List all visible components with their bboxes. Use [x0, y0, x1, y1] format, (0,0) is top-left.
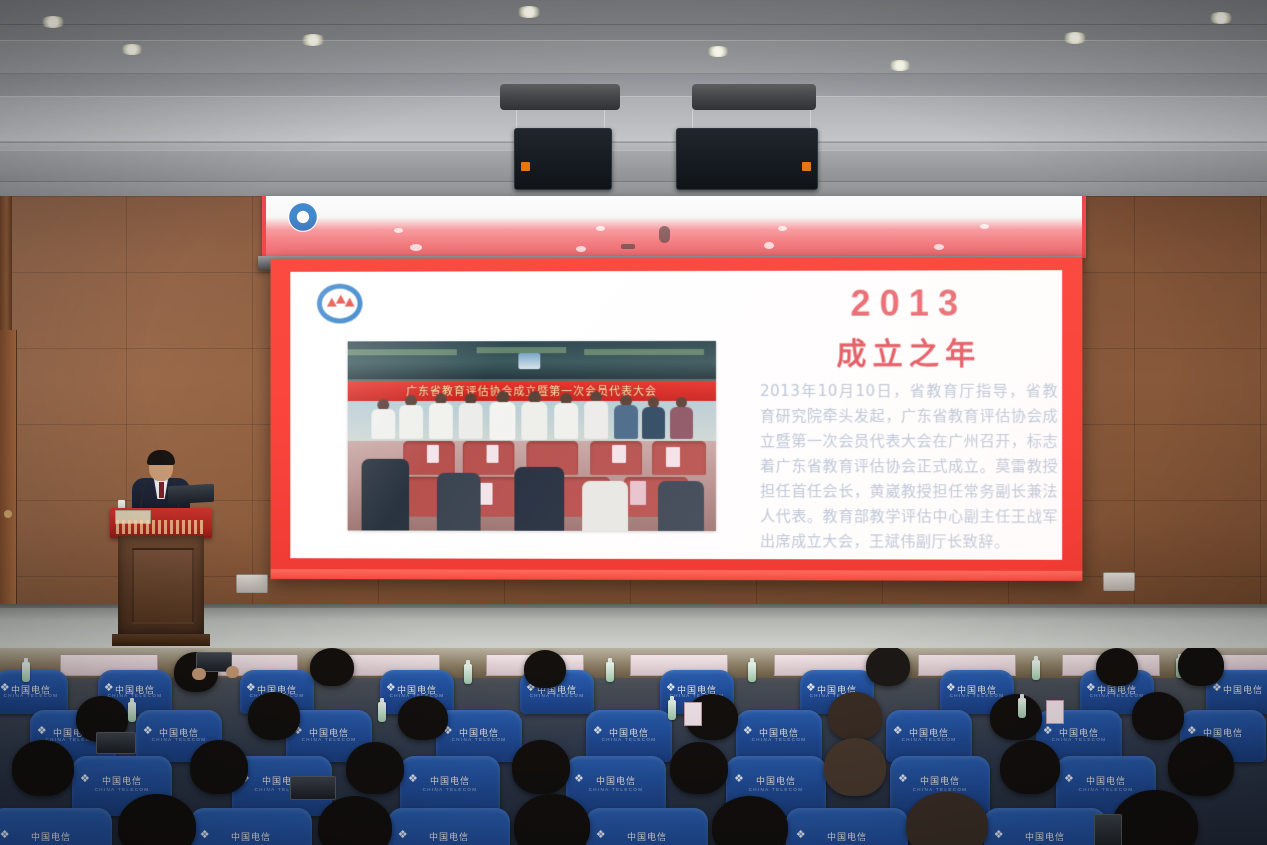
- chair-cover-subtext: CHINA TELECOM: [436, 737, 522, 742]
- chair-cover-subtext: CHINA TELECOM: [736, 737, 822, 742]
- slide-subtitle-heading: 成立之年: [758, 328, 1060, 372]
- reflection-speck: [596, 226, 605, 231]
- podium-banner-text: [116, 520, 206, 534]
- reflected-emblem-icon: [288, 202, 318, 232]
- presenter: [130, 452, 192, 514]
- chair-cover-text: 中国电信: [586, 830, 708, 843]
- audience-chair[interactable]: ❖ 中国电信 CHINA TELECOM: [400, 756, 500, 816]
- audience-chair[interactable]: ❖ 中国电信 CHINA TELECOM: [0, 808, 112, 845]
- seat-name-card: [1046, 700, 1064, 724]
- photo-audience-back: [437, 473, 481, 531]
- chair-cover-text: 中国电信: [0, 830, 112, 843]
- wall-outlet: [236, 574, 268, 593]
- photo-person: [554, 403, 578, 439]
- slide-body-text: 2013年10月10日，省教育厅指导，省教育研究院牵头发起，广东省教育评估协会成…: [760, 379, 1058, 555]
- chair-cover-subtext: CHINA TELECOM: [72, 787, 172, 792]
- photo-audience-back: [514, 467, 564, 531]
- audience-person: [346, 742, 404, 794]
- audience-chair[interactable]: ❖ 中国电信 CHINA TELECOM: [586, 808, 708, 845]
- ceiling-downlight: [706, 46, 730, 57]
- logo-triangle-icon: [345, 298, 355, 307]
- podium-front-panel: [132, 548, 194, 624]
- ceiling-downlight: [1208, 12, 1234, 24]
- smartphone[interactable]: [96, 732, 136, 754]
- audience-person: [824, 738, 886, 796]
- seat-name-card: [684, 702, 702, 726]
- screen-bottom-edge: [271, 569, 1083, 581]
- smartphone[interactable]: [1094, 814, 1122, 845]
- photo-seat-card: [666, 447, 680, 467]
- hanging-speaker: [676, 128, 818, 190]
- audience-person: [190, 740, 248, 794]
- audience-person: [1000, 740, 1060, 794]
- chair-cover-text: 中国电信: [566, 774, 666, 787]
- photo-audience-back: [582, 481, 628, 531]
- water-bottle: [464, 664, 472, 684]
- audience-chair[interactable]: ❖ 中国电信 CHINA TELECOM: [190, 808, 312, 845]
- photo-seat-card: [630, 481, 646, 505]
- photo-person: [490, 402, 516, 440]
- audience-person: [12, 740, 74, 796]
- audience-chair[interactable]: ❖ 中国电信 CHINA TELECOM: [586, 710, 672, 762]
- water-bottle: [378, 702, 386, 722]
- door-handle-icon[interactable]: [4, 510, 12, 518]
- hand: [226, 666, 239, 678]
- audience-person: [398, 696, 448, 740]
- photo-person: [584, 401, 608, 439]
- photo-seat-card: [427, 445, 439, 463]
- photo-seat-card: [612, 445, 626, 463]
- chair-cover-subtext: CHINA TELECOM: [726, 787, 826, 792]
- photo-person: [642, 407, 665, 439]
- podium: [110, 508, 212, 650]
- photo-ceiling-stripe: [348, 349, 457, 355]
- chair-cover-text: 中国电信: [786, 830, 908, 843]
- water-bottle: [748, 662, 756, 682]
- ceiling-duct: [500, 84, 620, 110]
- chair-cover-text: 中国电信: [726, 774, 826, 787]
- wall-outlet: [1103, 572, 1135, 591]
- reflection-speck: [394, 228, 403, 233]
- audience-person: [1132, 692, 1184, 740]
- audience-person: [866, 648, 910, 686]
- chair-cover-text: 中国电信: [890, 774, 990, 787]
- podium-banner: [110, 508, 212, 538]
- association-logo-icon: [314, 282, 365, 326]
- water-bottle: [606, 662, 614, 682]
- audience-area: ❖ 中国电信 CHINA TELECOM ❖ 中国电信 CHINA TELECO…: [0, 648, 1267, 845]
- audience-chair[interactable]: ❖ 中国电信 CHINA TELECOM: [786, 808, 908, 845]
- chair-cover-text: 中国电信: [388, 830, 510, 843]
- audience-person: [524, 650, 566, 688]
- ceiling-downlight: [120, 44, 144, 55]
- audience-person: [248, 692, 300, 740]
- photo-audience-back: [658, 481, 704, 531]
- chair-cover-subtext: CHINA TELECOM: [286, 737, 372, 742]
- slide-year-heading: 2013: [758, 282, 1060, 325]
- hand: [192, 668, 206, 680]
- chair-cover-text: 中国电信: [72, 774, 172, 787]
- speaker-cable: [810, 110, 811, 128]
- ceiling: [0, 0, 1267, 196]
- photo-person: [521, 402, 547, 440]
- water-bottle: [1018, 698, 1026, 718]
- photo-seat-card: [479, 483, 493, 505]
- reflection-speck: [410, 244, 422, 251]
- reflection-speck: [980, 224, 989, 229]
- ceiling-downlight: [1062, 32, 1088, 44]
- presenter-hair: [147, 450, 175, 465]
- photo-person: [670, 407, 693, 439]
- speaker-cable: [516, 110, 517, 128]
- reflection-dark-mark: [621, 244, 635, 249]
- audience-person: [1096, 648, 1138, 686]
- ceiling-band-upper: [0, 40, 1267, 74]
- photo-person: [429, 403, 453, 439]
- audience-person: [118, 794, 196, 845]
- presenter-tie: [159, 482, 164, 498]
- chair-cover-subtext: CHINA TELECOM: [886, 737, 972, 742]
- speaker-cable: [692, 110, 693, 128]
- ceiling-band-lower: [0, 150, 1267, 182]
- audience-person: [990, 694, 1042, 740]
- reflection-speck: [934, 244, 944, 250]
- audience-chair[interactable]: ❖ 中国电信 CHINA TELECOM: [388, 808, 510, 845]
- chair-cover-subtext: CHINA TELECOM: [520, 693, 594, 698]
- ceiling-band-mid: [0, 96, 1267, 142]
- photo-person: [371, 409, 395, 439]
- reflection-dark-mark: [659, 226, 670, 243]
- ceiling-downlight: [888, 60, 912, 71]
- reflection-speck: [764, 242, 774, 249]
- audience-person: [828, 692, 882, 740]
- audience-chair[interactable]: ❖ 中国电信 CHINA TELECOM: [0, 670, 68, 714]
- projection-screen-frame: 广东省教育评估协会成立暨第一次会员代表大会: [271, 257, 1083, 581]
- side-door[interactable]: [0, 330, 17, 630]
- audience-chair[interactable]: ❖ 中国电信 CHINA TELECOM: [886, 710, 972, 762]
- chair-cover-text: 中国电信: [1206, 683, 1267, 696]
- slide-photo: 广东省教育评估协会成立暨第一次会员代表大会: [348, 341, 716, 531]
- audience-person: [1178, 648, 1224, 686]
- water-bottle: [1032, 660, 1040, 680]
- reflection-speck: [576, 246, 586, 252]
- chair-cover-subtext: CHINA TELECOM: [400, 787, 500, 792]
- audience-person: [512, 740, 570, 794]
- water-bottle: [128, 702, 136, 722]
- photo-audience-back: [362, 459, 410, 531]
- audience-chair[interactable]: ❖ 中国电信 CHINA TELECOM: [436, 710, 522, 762]
- chair-cover-subtext: CHINA TELECOM: [586, 737, 672, 742]
- audience-person: [310, 648, 354, 686]
- audience-chair[interactable]: ❖ 中国电信 CHINA TELECOM: [984, 808, 1106, 845]
- reflection-speck: [778, 226, 787, 231]
- podium-base: [112, 634, 210, 646]
- photo-person: [614, 405, 638, 439]
- chair-cover-text: 中国电信: [400, 774, 500, 787]
- speaker-brand-icon: [521, 162, 530, 171]
- audience-person: [670, 742, 728, 794]
- presenter-laptop: [168, 484, 214, 504]
- water-bottle: [22, 662, 30, 682]
- audience-person: [1112, 790, 1198, 845]
- ceiling-downlight: [516, 6, 542, 18]
- podium-body: [118, 536, 204, 634]
- speaker-cable: [604, 110, 605, 128]
- chair-cover-text: 中国电信: [984, 830, 1106, 843]
- ceiling-duct: [692, 84, 816, 110]
- photo-person: [399, 405, 423, 439]
- water-bottle: [668, 700, 676, 720]
- ceiling-seam: [0, 142, 1267, 143]
- photo-ceiling-stripe: [584, 349, 704, 355]
- ceiling-downlight: [40, 16, 66, 28]
- chair-cover-subtext: CHINA TELECOM: [0, 693, 68, 698]
- chair-cover-subtext: CHINA TELECOM: [566, 787, 666, 792]
- chair-cover-subtext: CHINA TELECOM: [1036, 737, 1122, 742]
- projection-screen: 广东省教育评估协会成立暨第一次会员代表大会: [290, 270, 1062, 560]
- audience-chair[interactable]: ❖ 中国电信 CHINA TELECOM: [736, 710, 822, 762]
- audience-person: [1168, 736, 1234, 796]
- screenshot-root: 广东省教育评估协会成立暨第一次会员代表大会: [0, 0, 1267, 845]
- audience-person: [318, 796, 392, 845]
- speaker-brand-icon: [802, 162, 811, 171]
- ceiling-downlight: [300, 34, 326, 46]
- photo-projector: [518, 353, 540, 369]
- smartphone[interactable]: [290, 776, 336, 800]
- photo-person: [459, 403, 483, 439]
- hanging-speaker: [514, 128, 612, 190]
- chair-cover-text: 中国电信: [190, 830, 312, 843]
- upper-screen-reflection: [262, 196, 1086, 258]
- ceiling-seam: [0, 24, 1267, 25]
- photo-seat-card: [487, 445, 499, 463]
- chair-cover-text: 中国电信: [1056, 774, 1156, 787]
